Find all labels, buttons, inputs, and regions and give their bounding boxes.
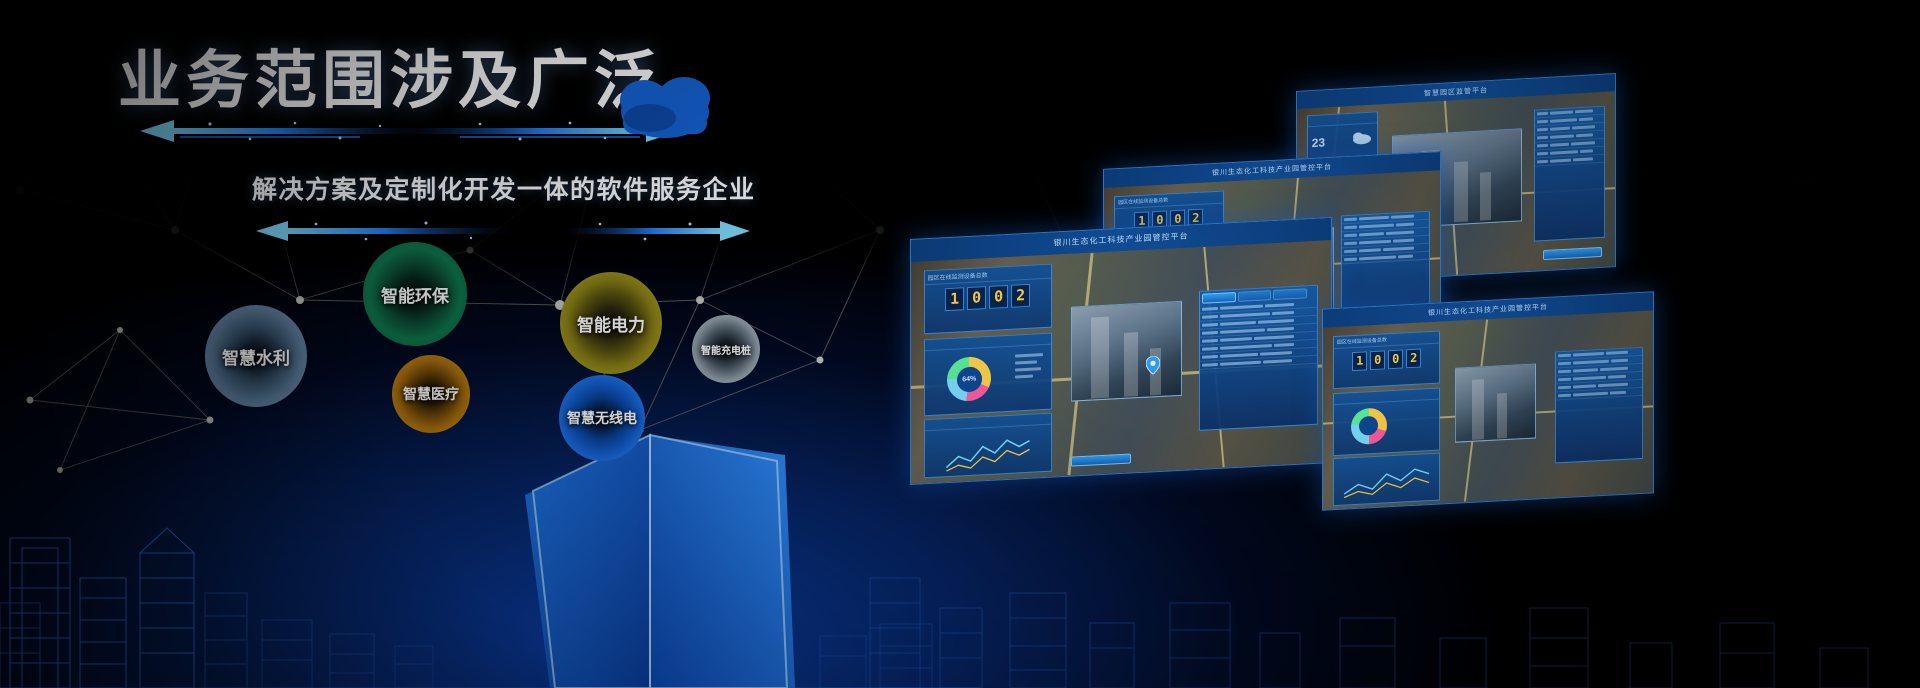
bubble-label: 智能环保 bbox=[381, 282, 449, 307]
page-subtitle: 解决方案及定制化开发一体的软件服务企业 bbox=[252, 170, 756, 206]
screen-content: 园区在线监测设备总数 1 0 0 2 bbox=[1323, 310, 1653, 509]
bubble-charging-pile[interactable]: 智能充电桩 bbox=[692, 315, 760, 383]
bubble-label: 智能电力 bbox=[577, 311, 645, 336]
map-pin-icon[interactable] bbox=[1146, 355, 1160, 374]
hero-banner: 业务范围涉及广泛 解决方案及定制化开发一体的软件服务企业 bbox=[0, 0, 1920, 688]
data-table[interactable] bbox=[1534, 106, 1606, 241]
screen-front-low[interactable]: 银川生态化工科技产业园管控平台 园区在线监测设备总数 1 0 0 2 bbox=[1322, 291, 1654, 510]
bubble-smart-radio[interactable]: 智慧无线电 bbox=[559, 375, 645, 461]
donut-legend bbox=[1015, 353, 1043, 378]
weather-temperature: 23 bbox=[1312, 136, 1325, 151]
bubble-smart-environment[interactable]: 智能环保 bbox=[363, 242, 467, 346]
donut-chart bbox=[1351, 407, 1387, 445]
site-photo bbox=[1455, 364, 1536, 443]
line-chart bbox=[1338, 463, 1435, 500]
bubble-smart-medical[interactable]: 智慧医疗 bbox=[392, 355, 470, 433]
page-title: 业务范围涉及广泛 bbox=[118, 47, 662, 116]
screen-title: 银川生态化工科技产业园管控平台 bbox=[1212, 162, 1332, 178]
bubble-smart-water[interactable]: 智慧水利 bbox=[205, 305, 307, 407]
bubble-label: 智能充电桩 bbox=[701, 342, 751, 357]
trend-panel bbox=[924, 412, 1052, 478]
bubble-label: 智慧水利 bbox=[222, 344, 290, 369]
counter-panel: 园区在线监测设备总数 1 0 0 2 bbox=[924, 263, 1052, 334]
donut-value: 64% bbox=[957, 366, 982, 392]
bubble-smart-power[interactable]: 智能电力 bbox=[560, 272, 662, 374]
screen-title: 银川生态化工科技产业园管控平台 bbox=[1054, 231, 1189, 249]
bubble-label: 智慧无线电 bbox=[567, 408, 637, 428]
counter-panel: 园区在线监测设备总数 1 0 0 2 bbox=[1333, 331, 1441, 390]
device-counter: 1 0 0 2 bbox=[925, 279, 1051, 317]
cloud-icon bbox=[610, 60, 720, 145]
donut-chart: 64% bbox=[947, 356, 991, 402]
data-table[interactable] bbox=[1199, 285, 1319, 431]
screen-main-large[interactable]: 银川生态化工科技产业园管控平台 园区在线监测设备总数 1 0 0 2 64% bbox=[910, 217, 1332, 485]
donut-panel: 64% bbox=[924, 332, 1052, 416]
panel-title bbox=[1308, 113, 1378, 128]
screen-title: 智慧园区监管平台 bbox=[1424, 85, 1488, 99]
data-table[interactable] bbox=[1555, 347, 1643, 463]
line-chart bbox=[930, 433, 1046, 474]
bubble-label: 智慧医疗 bbox=[403, 384, 459, 404]
screen-title: 银川生态化工科技产业园管控平台 bbox=[1428, 302, 1548, 318]
site-photo bbox=[1071, 301, 1182, 402]
screen-content: 园区在线监测设备总数 1 0 0 2 64% bbox=[911, 240, 1331, 484]
open-book-icon bbox=[455, 395, 835, 688]
trend-panel bbox=[1333, 453, 1441, 506]
donut-panel bbox=[1333, 387, 1441, 457]
cloud-small-icon bbox=[1351, 128, 1373, 145]
device-counter: 1 0 0 2 bbox=[1334, 344, 1440, 377]
